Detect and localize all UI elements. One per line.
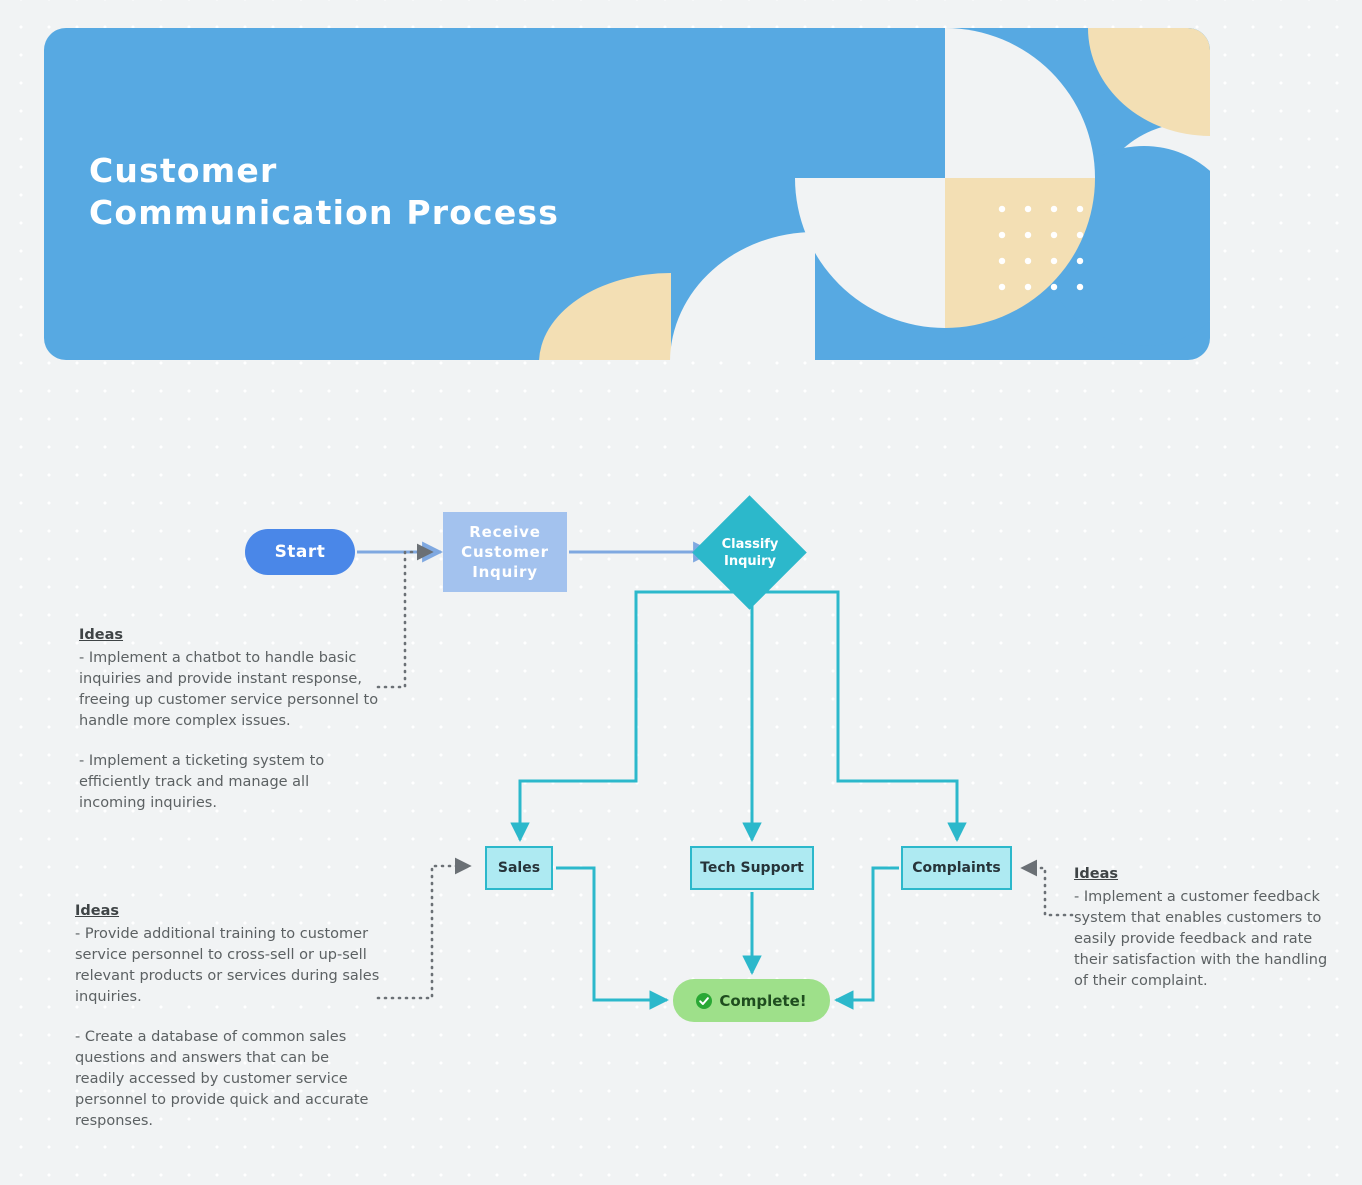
page-title: Customer Communication Process	[89, 150, 559, 234]
edge-ideas1-to-receive	[378, 552, 432, 687]
edge-classify-to-complaints	[764, 592, 957, 840]
note-ideas-3-heading: Ideas	[1074, 864, 1332, 885]
decorative-circle-quadrant-bottom-left	[795, 178, 945, 328]
note-ideas-1-heading: Ideas	[79, 625, 379, 646]
decorative-wedge-white	[670, 232, 815, 360]
node-receive-customer-inquiry[interactable]: Receive Customer Inquiry	[443, 512, 567, 592]
note-ideas-1-bullet-2: - Implement a ticketing system to effici…	[79, 751, 379, 814]
note-ideas-3: Ideas - Implement a customer feedback sy…	[1074, 864, 1332, 992]
edge-ideas3-to-complaints	[1022, 868, 1072, 915]
decorative-wedge-tan	[539, 273, 671, 360]
note-ideas-1-bullet-1: - Implement a chatbot to handle basic in…	[79, 648, 379, 732]
header-banner: Customer Communication Process	[44, 28, 1210, 360]
node-complete[interactable]: Complete!	[673, 979, 830, 1022]
node-receive-label: Receive Customer Inquiry	[461, 522, 549, 582]
node-sales[interactable]: Sales	[485, 846, 553, 890]
node-complete-label: Complete!	[719, 992, 806, 1010]
decorative-corner-quarter-circle-tan	[1088, 28, 1210, 136]
check-circle-icon	[696, 993, 712, 1009]
node-complaints-label: Complaints	[912, 860, 1001, 876]
edge-complaints-to-complete	[836, 868, 899, 1000]
node-tech-support-label: Tech Support	[700, 860, 804, 876]
note-ideas-2-bullet-2: - Create a database of common sales ques…	[75, 1027, 380, 1132]
node-complaints[interactable]: Complaints	[901, 846, 1012, 890]
note-ideas-2-bullet-1: - Provide additional training to custome…	[75, 924, 380, 1008]
note-ideas-2: Ideas - Provide additional training to c…	[75, 901, 380, 1132]
node-classify-label: Classify Inquiry	[722, 536, 779, 570]
note-ideas-3-bullet-1: - Implement a customer feedback system t…	[1074, 887, 1332, 992]
note-ideas-1: Ideas - Implement a chatbot to handle ba…	[79, 625, 379, 814]
node-start[interactable]: Start	[245, 529, 355, 575]
node-classify-inquiry[interactable]: Classify Inquiry	[693, 496, 807, 610]
edge-classify-to-sales	[520, 592, 740, 840]
node-sales-label: Sales	[498, 860, 540, 876]
note-ideas-2-heading: Ideas	[75, 901, 380, 922]
node-start-label: Start	[275, 542, 326, 562]
edge-ideas2-to-sales	[378, 866, 470, 998]
node-tech-support[interactable]: Tech Support	[690, 846, 814, 890]
decorative-dot-grid	[987, 194, 1097, 304]
decorative-circle-quadrant-top-right	[945, 28, 1095, 178]
edge-sales-to-complete	[556, 868, 667, 1000]
